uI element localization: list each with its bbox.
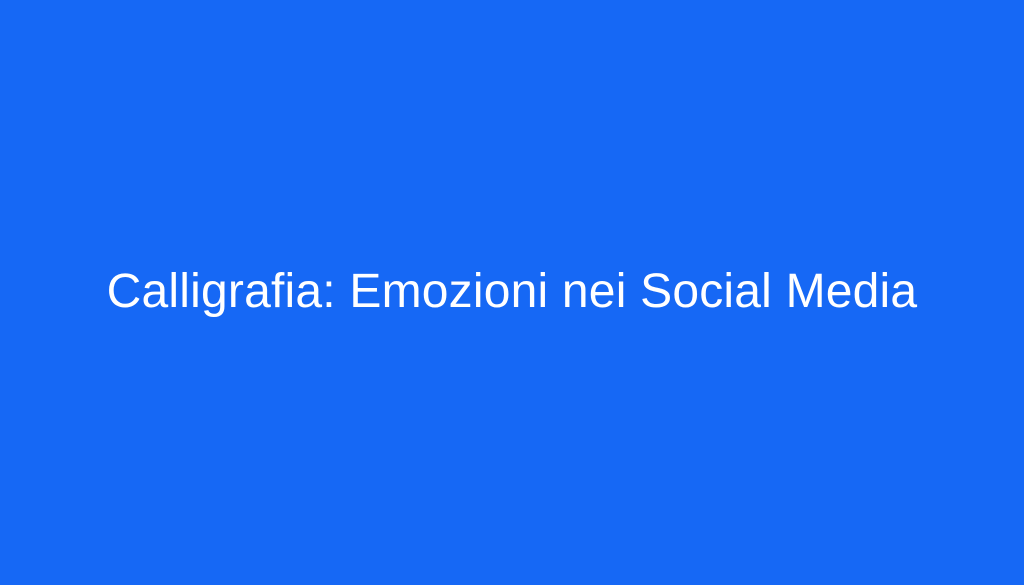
page-title: Calligrafia: Emozioni nei Social Media <box>48 264 976 321</box>
title-block: Calligrafia: Emozioni nei Social Media <box>0 264 1024 321</box>
title-slide: Calligrafia: Emozioni nei Social Media <box>0 0 1024 585</box>
